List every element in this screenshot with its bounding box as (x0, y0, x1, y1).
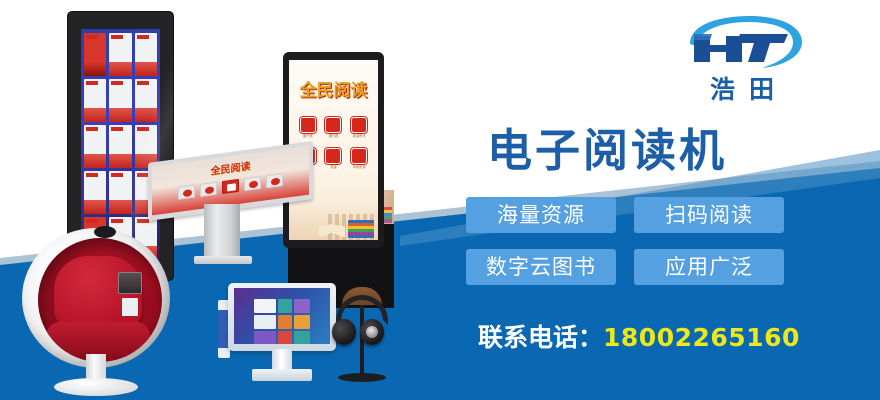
aio-tile (254, 331, 276, 344)
library-icon (300, 117, 316, 133)
table-icon (266, 173, 283, 188)
aio-screen (234, 288, 330, 344)
chair-interior (38, 238, 162, 362)
feature-tag-wide-application[interactable]: 应用广泛 (634, 249, 784, 285)
product-banner: 全民阅读 图书馆 期刊报 新闻资讯 (0, 0, 880, 400)
book-cover (109, 33, 131, 76)
kiosk-tile: 图书馆 (297, 117, 319, 138)
book-cover (109, 171, 131, 214)
kiosk-tile: 新闻资讯 (348, 117, 370, 138)
chair-label-tag (122, 298, 138, 316)
table-icon (222, 179, 239, 194)
aio-tile (294, 299, 310, 313)
aio-tile (294, 331, 310, 344)
book-cover (84, 79, 106, 122)
table-icon (178, 185, 195, 200)
product-ball-chair (22, 228, 170, 390)
chair-speaker (94, 226, 116, 238)
ht-monogram-icon (676, 14, 808, 72)
aio-tile-grid (239, 299, 325, 344)
book-cover (84, 125, 106, 168)
chair-base (54, 378, 138, 396)
contact-phone-line: 联系电话：18002265160 (478, 318, 800, 354)
contact-phone-number: 18002265160 (603, 323, 800, 352)
chair-seat (46, 322, 150, 356)
location-icon (351, 148, 367, 164)
aio-tile (254, 315, 276, 329)
party-building-icon (325, 148, 341, 164)
feature-tag-scan-to-read[interactable]: 扫码阅读 (634, 197, 784, 233)
product-touch-table: 全民阅读 (148, 152, 313, 262)
news-icon (351, 117, 367, 133)
logo-company-name: 浩田 (676, 70, 808, 106)
book-cover (84, 33, 106, 76)
company-logo: 浩田 (676, 14, 808, 104)
feature-tag-massive-resources[interactable]: 海量资源 (466, 197, 616, 233)
feature-tag-digital-cloud-library[interactable]: 数字云图书 (466, 249, 616, 285)
journal-icon (325, 117, 341, 133)
book-cover (109, 125, 131, 168)
contact-label: 联系电话： (478, 323, 603, 352)
aio-tile (294, 315, 310, 329)
headphone-stand-base (338, 373, 386, 382)
touch-table-stem (204, 204, 240, 262)
book-cover (84, 171, 106, 214)
aio-bezel (228, 283, 336, 351)
table-icon (200, 182, 217, 197)
feature-tag-list: 海量资源 扫码阅读 数字云图书 应用广泛 (466, 197, 784, 285)
kiosk-tile: 本地资源 (348, 148, 370, 169)
chair-control-panel (118, 272, 142, 294)
table-icon (244, 176, 261, 191)
product-all-in-one-desktop (228, 283, 336, 387)
aio-tile (278, 331, 292, 344)
headphone-earcup-right (360, 319, 384, 345)
kiosk-tile: 期刊报 (323, 117, 345, 138)
product-headphones (330, 285, 396, 389)
aio-tile (254, 299, 276, 313)
product-scene: 全民阅读 图书馆 期刊报 新闻资讯 (0, 0, 460, 400)
book-cover (135, 79, 157, 122)
aio-stand-base (252, 369, 312, 381)
kiosk-tile: 党建 (323, 148, 345, 169)
touch-table-base (194, 256, 252, 264)
aio-stand-neck (272, 349, 292, 371)
chair-shell (22, 228, 170, 368)
book-stack-illustration (348, 220, 374, 238)
kiosk-screen-title: 全民阅读 (289, 76, 378, 101)
page-title: 电子阅读机 (487, 114, 727, 179)
headphone-earcup-left (332, 319, 356, 345)
aio-tile (278, 315, 292, 329)
aio-tile (278, 299, 292, 313)
book-cover (135, 33, 157, 76)
book-cover (109, 79, 131, 122)
